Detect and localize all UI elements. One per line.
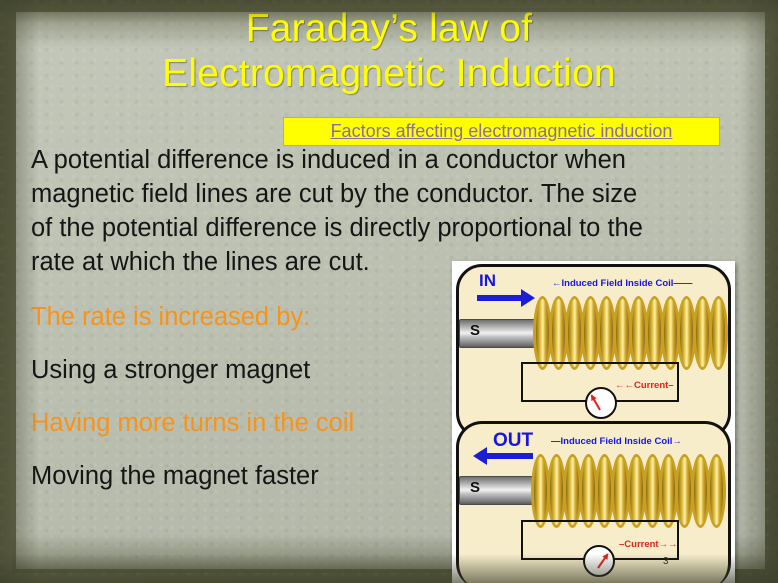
list-item: The rate is increased by: xyxy=(31,302,451,333)
magnet-pole-s-bottom: S xyxy=(470,479,480,496)
induced-field-label-top: ←Induced Field Inside Coil—— xyxy=(552,278,692,289)
magnet-pole-s-top: S xyxy=(470,322,480,339)
subtitle-banner: Factors affecting electromagnetic induct… xyxy=(283,117,720,146)
galvanometer-bottom xyxy=(583,545,615,577)
out-arrow-shaft xyxy=(485,453,533,459)
title-line-2: Electromagnetic Induction xyxy=(0,51,778,96)
list-item: Having more turns in the coil xyxy=(31,408,451,439)
subtitle-banner-text: Factors affecting electromagnetic induct… xyxy=(331,121,673,142)
coil-bottom xyxy=(531,454,727,522)
page-number: 3 xyxy=(663,556,669,567)
list-item: Using a stronger magnet xyxy=(31,355,451,386)
diagram-panel-in: IN ←Induced Field Inside Coil—— S N xyxy=(456,264,731,439)
page-title: Faraday’s law of Electromagnetic Inducti… xyxy=(0,6,778,96)
out-arrow-head xyxy=(473,447,487,465)
galvanometer-top xyxy=(585,387,617,419)
diagram-panel-out: OUT —Induced Field Inside Coil→ S N xyxy=(456,421,731,583)
induction-diagram: IN ←Induced Field Inside Coil—— S N xyxy=(452,261,735,583)
induced-field-label-bottom: —Induced Field Inside Coil→ xyxy=(551,436,682,447)
list-item: Moving the magnet faster xyxy=(31,461,451,492)
body-paragraph: A potential difference is induced in a c… xyxy=(31,143,751,279)
direction-label-out: OUT xyxy=(493,430,533,452)
direction-label-in: IN xyxy=(479,271,496,291)
circuit-wire-left-top xyxy=(521,362,523,402)
circuit-wire-upper-top xyxy=(521,362,679,364)
bullet-list: The rate is increased by: Using a strong… xyxy=(31,302,451,514)
coil-top xyxy=(533,296,728,364)
in-arrow-shaft xyxy=(477,295,523,301)
current-label-top: ←←Current– xyxy=(615,380,674,391)
paragraph-line-1: A potential difference is induced in a c… xyxy=(31,143,751,177)
title-line-1: Faraday’s law of xyxy=(0,6,778,51)
slide-root: Faraday’s law of Electromagnetic Inducti… xyxy=(0,0,778,583)
paragraph-line-2: magnetic field lines are cut by the cond… xyxy=(31,177,751,211)
circuit-wire-upper-bottom xyxy=(521,520,679,522)
current-label-bottom: –Current→→ xyxy=(619,539,678,550)
paragraph-line-3: of the potential difference is directly … xyxy=(31,211,751,245)
circuit-wire-right-top xyxy=(677,362,679,402)
circuit-wire-left-bottom xyxy=(521,520,523,560)
